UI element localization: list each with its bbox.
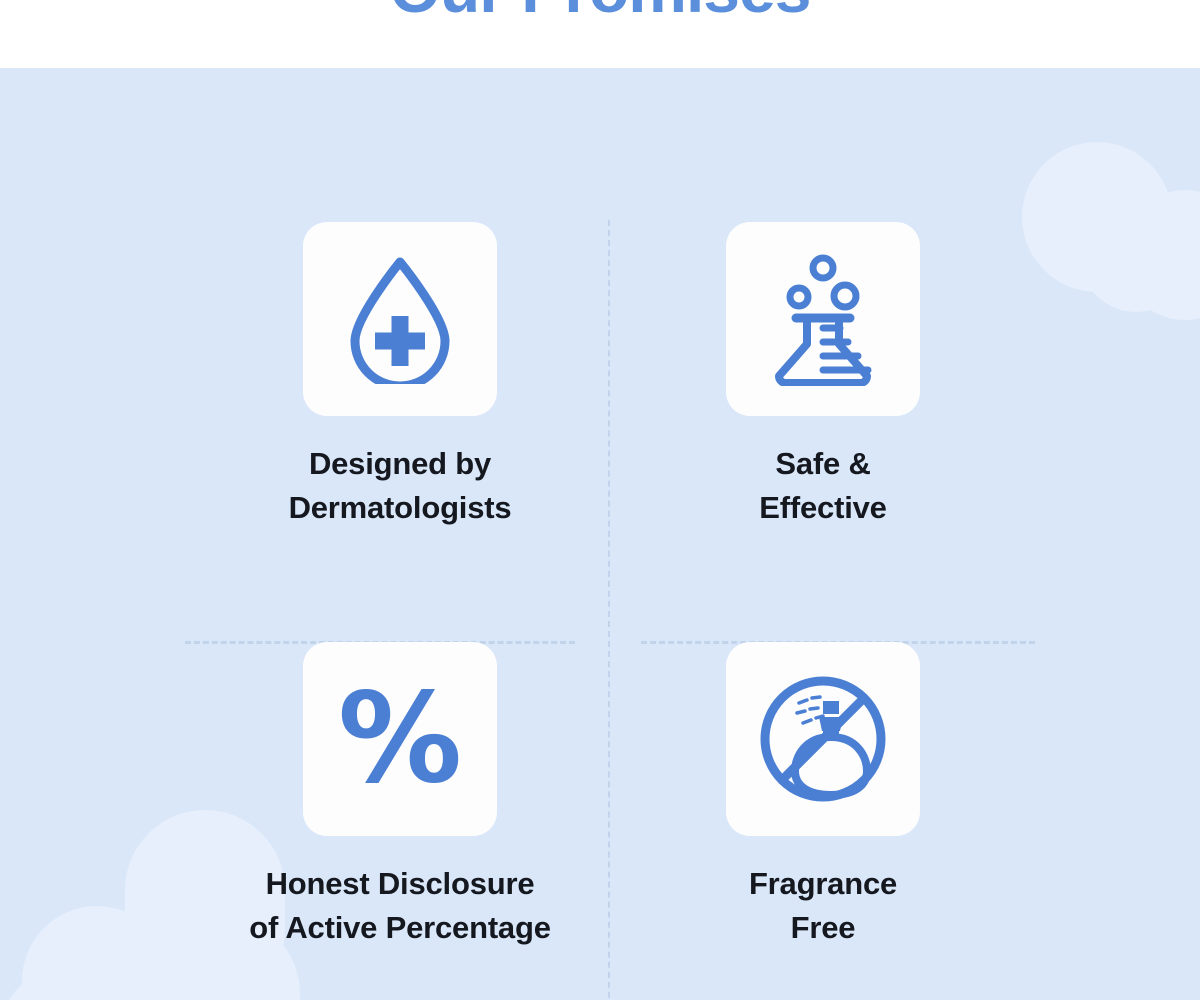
promise-label: Fragrance Free [613,862,1033,950]
promise-item-designed-by-dermatologists: Designed by Dermatologists [190,222,610,530]
water-drop-plus-icon [341,254,459,384]
promise-grid: Designed by Dermatologists [0,68,1200,1000]
page-title: Our Promises [0,0,1200,22]
no-fragrance-spray-bottle-icon [757,673,889,805]
percent-icon: % [338,677,462,801]
promise-item-safe-and-effective: Safe & Effective [613,222,1033,530]
promises-panel: Designed by Dermatologists [0,68,1200,1000]
icon-card [726,222,920,416]
promise-label: Honest Disclosure of Active Percentage [190,862,610,950]
promise-item-honest-disclosure: % Honest Disclosure of Active Percentage [190,642,610,950]
promise-label: Designed by Dermatologists [190,442,610,530]
header-band: Our Promises [0,0,1200,68]
promise-item-fragrance-free: Fragrance Free [613,642,1033,950]
lab-flask-icon [762,252,884,386]
icon-card: % [303,642,497,836]
icon-card [726,642,920,836]
icon-card [303,222,497,416]
promise-label: Safe & Effective [613,442,1033,530]
promises-section: Our Promises [0,0,1200,1000]
